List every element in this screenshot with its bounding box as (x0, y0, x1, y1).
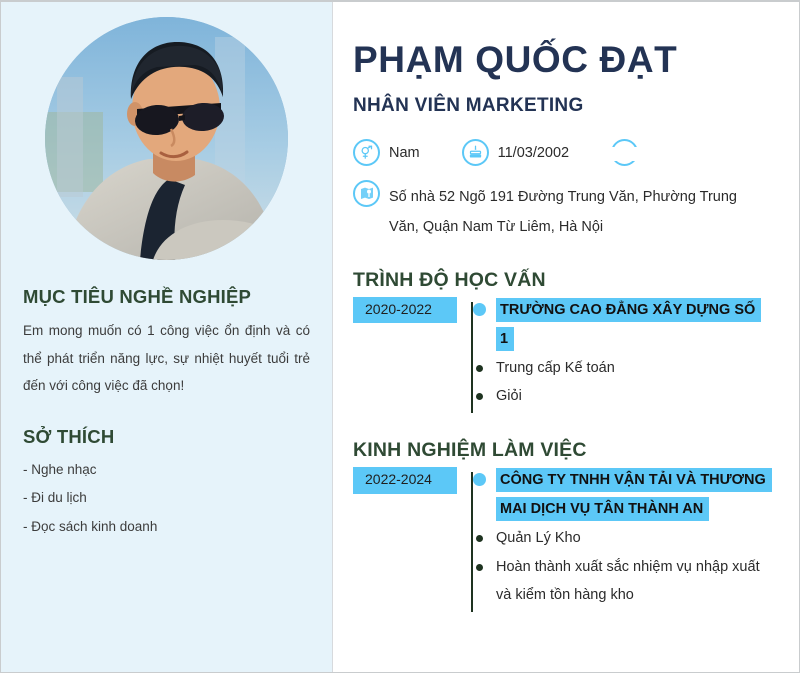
education-title: TRƯỜNG CAO ĐẲNG XÂY DỰNG SỐ 1 (496, 298, 761, 351)
address-row: Số nhà 52 Ngõ 191 Đường Trung Văn, Phườn… (353, 182, 769, 243)
main-content: PHẠM QUỐC ĐẠT NHÂN VIÊN MARKETING Nam (333, 2, 799, 672)
gender-icon (353, 139, 380, 166)
info-extra (611, 139, 638, 166)
education-date-empty (353, 383, 457, 394)
birthday-value: 11/03/2002 (498, 145, 570, 161)
timeline-dot-primary (471, 466, 487, 486)
education-date-badge: 2020-2022 (353, 297, 457, 323)
timeline-dot (471, 354, 487, 372)
page-title: PHẠM QUỐC ĐẠT (353, 40, 769, 80)
education-detail: Giỏi (496, 388, 522, 404)
timeline-entry: 2022-2024 CÔNG TY TNHH VẬN TẢI VÀ THƯƠNG… (353, 466, 769, 524)
list-item: - Đọc sách kinh doanh (23, 513, 310, 541)
timeline-entry: Giỏi (353, 382, 769, 410)
education-date-empty (353, 355, 457, 366)
gender-value: Nam (389, 145, 420, 161)
experience-heading: KINH NGHIỆM LÀM VIỆC (353, 439, 769, 462)
timeline-dot (471, 553, 487, 571)
education-detail: Trung cấp Kế toán (496, 360, 615, 376)
experience-detail: Quản Lý Kho (496, 530, 581, 546)
cv-page: MỤC TIÊU NGHỀ NGHIỆP Em mong muốn có 1 c… (0, 0, 800, 673)
list-item: - Đi du lịch (23, 484, 310, 512)
avatar (45, 17, 288, 260)
timeline-entry: Hoàn thành xuất sắc nhiệm vụ nhập xuất v… (353, 553, 769, 610)
birthday-cake-icon (462, 139, 489, 166)
timeline-entry: Quản Lý Kho (353, 524, 769, 552)
experience-date-empty (353, 525, 457, 536)
timeline-dot (471, 524, 487, 542)
objective-heading: MỤC TIÊU NGHỀ NGHIỆP (23, 286, 310, 308)
job-role: NHÂN VIÊN MARKETING (353, 95, 769, 117)
info-birthday: 11/03/2002 (462, 139, 570, 166)
education-heading: TRÌNH ĐỘ HỌC VẤN (353, 269, 769, 292)
timeline-dot-primary (471, 296, 487, 316)
personal-info-row: Nam 11/03/2002 (353, 138, 769, 168)
experience-date-empty (353, 554, 457, 565)
info-gender: Nam (353, 139, 420, 166)
map-location-icon (353, 180, 380, 207)
address-value: Số nhà 52 Ngõ 191 Đường Trung Văn, Phườn… (389, 182, 769, 243)
timeline-entry: 2020-2022 TRƯỜNG CAO ĐẲNG XÂY DỰNG SỐ 1 (353, 296, 769, 354)
sidebar: MỤC TIÊU NGHỀ NGHIỆP Em mong muốn có 1 c… (1, 2, 333, 672)
education-timeline: 2020-2022 TRƯỜNG CAO ĐẲNG XÂY DỰNG SỐ 1 … (353, 296, 769, 414)
hobbies-list: - Nghe nhạc - Đi du lịch - Đọc sách kinh… (23, 456, 310, 541)
experience-timeline: 2022-2024 CÔNG TY TNHH VẬN TẢI VÀ THƯƠNG… (353, 466, 769, 612)
avatar-container (23, 2, 310, 260)
objective-body: Em mong muốn có 1 công việc ổn định và c… (23, 317, 310, 400)
timeline-dot (471, 382, 487, 400)
timeline-entry: Trung cấp Kế toán (353, 354, 769, 382)
experience-title: CÔNG TY TNHH VẬN TẢI VÀ THƯƠNG MAI DỊCH … (496, 468, 772, 521)
hobbies-heading: SỞ THÍCH (23, 426, 310, 448)
masked-circle-icon (611, 139, 638, 166)
experience-detail: Hoàn thành xuất sắc nhiệm vụ nhập xuất v… (496, 559, 760, 603)
list-item: - Nghe nhạc (23, 456, 310, 484)
experience-date-badge: 2022-2024 (353, 467, 457, 493)
